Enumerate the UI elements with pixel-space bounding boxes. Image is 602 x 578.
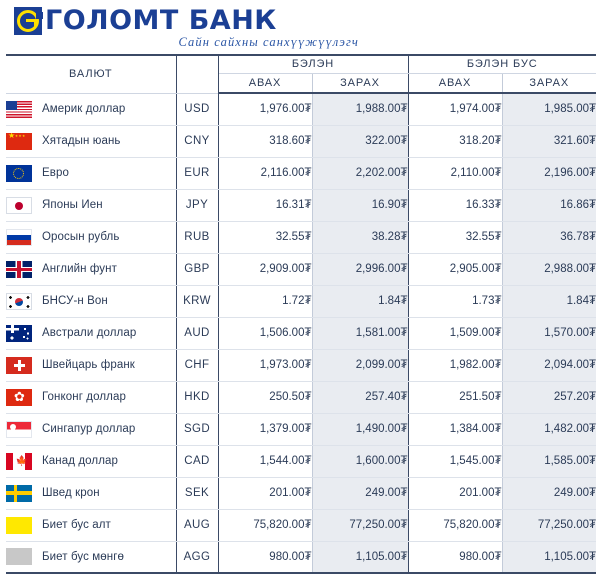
noncash-sell-rate: 1,482.00₮ — [502, 413, 596, 445]
currency-code: AUD — [176, 317, 218, 349]
flag-ca-icon — [6, 453, 32, 470]
flag-jp-icon — [6, 197, 32, 214]
header-group-cash: БЭЛЭН — [218, 55, 408, 73]
currency-cell: Биет бус мөнгө — [6, 541, 176, 573]
currency-cell: Швейцарь франк — [6, 349, 176, 381]
brand-logo-row: ГОЛОМТ БАНК — [14, 6, 394, 36]
cash-buy-rate: 1,506.00₮ — [218, 317, 312, 349]
header-code — [176, 55, 218, 93]
noncash-buy-rate: 251.50₮ — [408, 381, 502, 413]
header-noncash-sell: ЗАРАХ — [502, 73, 596, 93]
noncash-sell-rate: 249.00₮ — [502, 477, 596, 509]
flag-hk-icon — [6, 389, 32, 406]
cash-sell-rate: 2,996.00₮ — [312, 253, 408, 285]
noncash-sell-rate: 1.84₮ — [502, 285, 596, 317]
currency-cell: Биет бус алт — [6, 509, 176, 541]
swatch-silver-icon — [6, 548, 32, 565]
header-cash-buy: АВАХ — [218, 73, 312, 93]
cash-sell-rate: 2,099.00₮ — [312, 349, 408, 381]
currency-name: Хятадын юань — [42, 135, 121, 147]
table-row: Канад долларCAD1,544.00₮1,600.00₮1,545.0… — [6, 445, 596, 477]
noncash-buy-rate: 1,974.00₮ — [408, 93, 502, 125]
currency-name: Гонконг доллар — [42, 391, 126, 403]
flag-gb-icon — [6, 261, 32, 278]
noncash-sell-rate: 1,105.00₮ — [502, 541, 596, 573]
currency-code: JPY — [176, 189, 218, 221]
currency-code: SEK — [176, 477, 218, 509]
flag-eu-icon — [6, 165, 32, 182]
currency-cell: Хятадын юань — [6, 125, 176, 157]
currency-cell: Австрали доллар — [6, 317, 176, 349]
noncash-sell-rate: 1,585.00₮ — [502, 445, 596, 477]
noncash-buy-rate: 75,820.00₮ — [408, 509, 502, 541]
table-row: Оросын рубльRUB32.55₮38.28₮32.55₮36.78₮ — [6, 221, 596, 253]
noncash-buy-rate: 980.00₮ — [408, 541, 502, 573]
currency-cell: БНСУ-н Вон — [6, 285, 176, 317]
currency-name: Сингапур доллар — [42, 423, 135, 435]
table-row: Швейцарь франкCHF1,973.00₮2,099.00₮1,982… — [6, 349, 596, 381]
currency-name: Швейцарь франк — [42, 359, 135, 371]
swatch-gold-icon — [6, 517, 32, 534]
cash-buy-rate: 250.50₮ — [218, 381, 312, 413]
cash-buy-rate: 2,116.00₮ — [218, 157, 312, 189]
currency-name: Японы Иен — [42, 199, 103, 211]
noncash-sell-rate: 257.20₮ — [502, 381, 596, 413]
currency-cell: Японы Иен — [6, 189, 176, 221]
noncash-buy-rate: 32.55₮ — [408, 221, 502, 253]
currency-cell: Оросын рубль — [6, 221, 176, 253]
cash-buy-rate: 201.00₮ — [218, 477, 312, 509]
table-row: Гонконг долларHKD250.50₮257.40₮251.50₮25… — [6, 381, 596, 413]
currency-name: Швед крон — [42, 487, 100, 499]
noncash-sell-rate: 1,570.00₮ — [502, 317, 596, 349]
currency-code: USD — [176, 93, 218, 125]
header-currency: ВАЛЮТ — [6, 55, 176, 93]
cash-sell-rate: 1,600.00₮ — [312, 445, 408, 477]
cash-buy-rate: 2,909.00₮ — [218, 253, 312, 285]
currency-cell: Канад доллар — [6, 445, 176, 477]
header-group-noncash: БЭЛЭН БУС — [408, 55, 596, 73]
cash-sell-rate: 16.90₮ — [312, 189, 408, 221]
noncash-buy-rate: 1,545.00₮ — [408, 445, 502, 477]
cash-buy-rate: 1,379.00₮ — [218, 413, 312, 445]
cash-sell-rate: 1,988.00₮ — [312, 93, 408, 125]
cash-buy-rate: 32.55₮ — [218, 221, 312, 253]
cash-sell-rate: 249.00₮ — [312, 477, 408, 509]
currency-cell: Евро — [6, 157, 176, 189]
table-row: ЕвроEUR2,116.00₮2,202.00₮2,110.00₮2,196.… — [6, 157, 596, 189]
bank-tagline: Сайн сайхны санхүүжүүлэгч — [14, 35, 359, 50]
currency-name: Биет бус мөнгө — [42, 551, 124, 563]
currency-code: AUG — [176, 509, 218, 541]
currency-code: CHF — [176, 349, 218, 381]
cash-buy-rate: 75,820.00₮ — [218, 509, 312, 541]
currency-code: RUB — [176, 221, 218, 253]
currency-name: Канад доллар — [42, 455, 118, 467]
cash-sell-rate: 38.28₮ — [312, 221, 408, 253]
cash-buy-rate: 1,973.00₮ — [218, 349, 312, 381]
cash-buy-rate: 318.60₮ — [218, 125, 312, 157]
currency-code: CAD — [176, 445, 218, 477]
flag-se-icon — [6, 485, 32, 502]
currency-cell: Гонконг доллар — [6, 381, 176, 413]
flag-sg-icon — [6, 421, 32, 438]
noncash-sell-rate: 2,196.00₮ — [502, 157, 596, 189]
noncash-sell-rate: 77,250.00₮ — [502, 509, 596, 541]
currency-code: AGG — [176, 541, 218, 573]
currency-name: БНСУ-н Вон — [42, 295, 108, 307]
cash-buy-rate: 1,544.00₮ — [218, 445, 312, 477]
currency-name: Оросын рубль — [42, 231, 119, 243]
currency-cell: Швед крон — [6, 477, 176, 509]
table-row: Японы ИенJPY16.31₮16.90₮16.33₮16.86₮ — [6, 189, 596, 221]
noncash-sell-rate: 321.60₮ — [502, 125, 596, 157]
table-row: Швед кронSEK201.00₮249.00₮201.00₮249.00₮ — [6, 477, 596, 509]
table-row: Биет бус мөнгөAGG980.00₮1,105.00₮980.00₮… — [6, 541, 596, 573]
cash-buy-rate: 1,976.00₮ — [218, 93, 312, 125]
flag-cn-icon — [6, 133, 32, 150]
table-body: Америк долларUSD1,976.00₮1,988.00₮1,974.… — [6, 93, 596, 573]
table-row: Америк долларUSD1,976.00₮1,988.00₮1,974.… — [6, 93, 596, 125]
header-cash-sell: ЗАРАХ — [312, 73, 408, 93]
cash-sell-rate: 257.40₮ — [312, 381, 408, 413]
table-row: Сингапур долларSGD1,379.00₮1,490.00₮1,38… — [6, 413, 596, 445]
currency-name: Америк доллар — [42, 103, 125, 115]
noncash-sell-rate: 2,094.00₮ — [502, 349, 596, 381]
currency-name: Английн фунт — [42, 263, 117, 275]
currency-code: KRW — [176, 285, 218, 317]
golomt-g-logo-icon — [14, 7, 42, 35]
currency-name: Биет бус алт — [42, 519, 111, 531]
header-noncash-buy: АВАХ — [408, 73, 502, 93]
noncash-buy-rate: 1,384.00₮ — [408, 413, 502, 445]
currency-code: EUR — [176, 157, 218, 189]
bank-name: ГОЛОМТ БАНК — [45, 6, 277, 36]
flag-us-icon — [6, 101, 32, 118]
currency-code: SGD — [176, 413, 218, 445]
noncash-sell-rate: 16.86₮ — [502, 189, 596, 221]
exchange-rates-page: ГОЛОМТ БАНК Сайн сайхны санхүүжүүлэгч ВА… — [0, 0, 602, 578]
noncash-buy-rate: 201.00₮ — [408, 477, 502, 509]
cash-buy-rate: 16.31₮ — [218, 189, 312, 221]
flag-au-icon — [6, 325, 32, 342]
cash-buy-rate: 1.72₮ — [218, 285, 312, 317]
table-row: Биет бус алтAUG75,820.00₮77,250.00₮75,82… — [6, 509, 596, 541]
noncash-buy-rate: 16.33₮ — [408, 189, 502, 221]
cash-sell-rate: 2,202.00₮ — [312, 157, 408, 189]
noncash-buy-rate: 1.73₮ — [408, 285, 502, 317]
currency-name: Евро — [42, 167, 69, 179]
table-head: ВАЛЮТ БЭЛЭН БЭЛЭН БУС АВАХ ЗАРАХ АВАХ ЗА… — [6, 55, 596, 93]
cash-buy-rate: 980.00₮ — [218, 541, 312, 573]
currency-code: CNY — [176, 125, 218, 157]
noncash-buy-rate: 2,110.00₮ — [408, 157, 502, 189]
rates-table-container: ВАЛЮТ БЭЛЭН БЭЛЭН БУС АВАХ ЗАРАХ АВАХ ЗА… — [6, 54, 596, 574]
table-row: Австрали долларAUD1,506.00₮1,581.00₮1,50… — [6, 317, 596, 349]
currency-name: Австрали доллар — [42, 327, 136, 339]
noncash-sell-rate: 2,988.00₮ — [502, 253, 596, 285]
cash-sell-rate: 1,490.00₮ — [312, 413, 408, 445]
exchange-rates-table: ВАЛЮТ БЭЛЭН БЭЛЭН БУС АВАХ ЗАРАХ АВАХ ЗА… — [6, 54, 596, 574]
noncash-buy-rate: 318.20₮ — [408, 125, 502, 157]
cash-sell-rate: 1,105.00₮ — [312, 541, 408, 573]
currency-code: HKD — [176, 381, 218, 413]
currency-cell: Английн фунт — [6, 253, 176, 285]
noncash-buy-rate: 2,905.00₮ — [408, 253, 502, 285]
flag-ch-icon — [6, 357, 32, 374]
cash-sell-rate: 1.84₮ — [312, 285, 408, 317]
bank-brand-header: ГОЛОМТ БАНК Сайн сайхны санхүүжүүлэгч — [14, 6, 394, 52]
cash-sell-rate: 322.00₮ — [312, 125, 408, 157]
table-row: Английн фунтGBP2,909.00₮2,996.00₮2,905.0… — [6, 253, 596, 285]
noncash-sell-rate: 36.78₮ — [502, 221, 596, 253]
currency-cell: Сингапур доллар — [6, 413, 176, 445]
cash-sell-rate: 77,250.00₮ — [312, 509, 408, 541]
cash-sell-rate: 1,581.00₮ — [312, 317, 408, 349]
header-group-row: ВАЛЮТ БЭЛЭН БЭЛЭН БУС — [6, 55, 596, 73]
flag-ru-icon — [6, 229, 32, 246]
noncash-buy-rate: 1,982.00₮ — [408, 349, 502, 381]
noncash-buy-rate: 1,509.00₮ — [408, 317, 502, 349]
noncash-sell-rate: 1,985.00₮ — [502, 93, 596, 125]
table-row: БНСУ-н ВонKRW1.72₮1.84₮1.73₮1.84₮ — [6, 285, 596, 317]
currency-cell: Америк доллар — [6, 93, 176, 125]
flag-kr-icon — [6, 293, 32, 310]
currency-code: GBP — [176, 253, 218, 285]
table-row: Хятадын юаньCNY318.60₮322.00₮318.20₮321.… — [6, 125, 596, 157]
